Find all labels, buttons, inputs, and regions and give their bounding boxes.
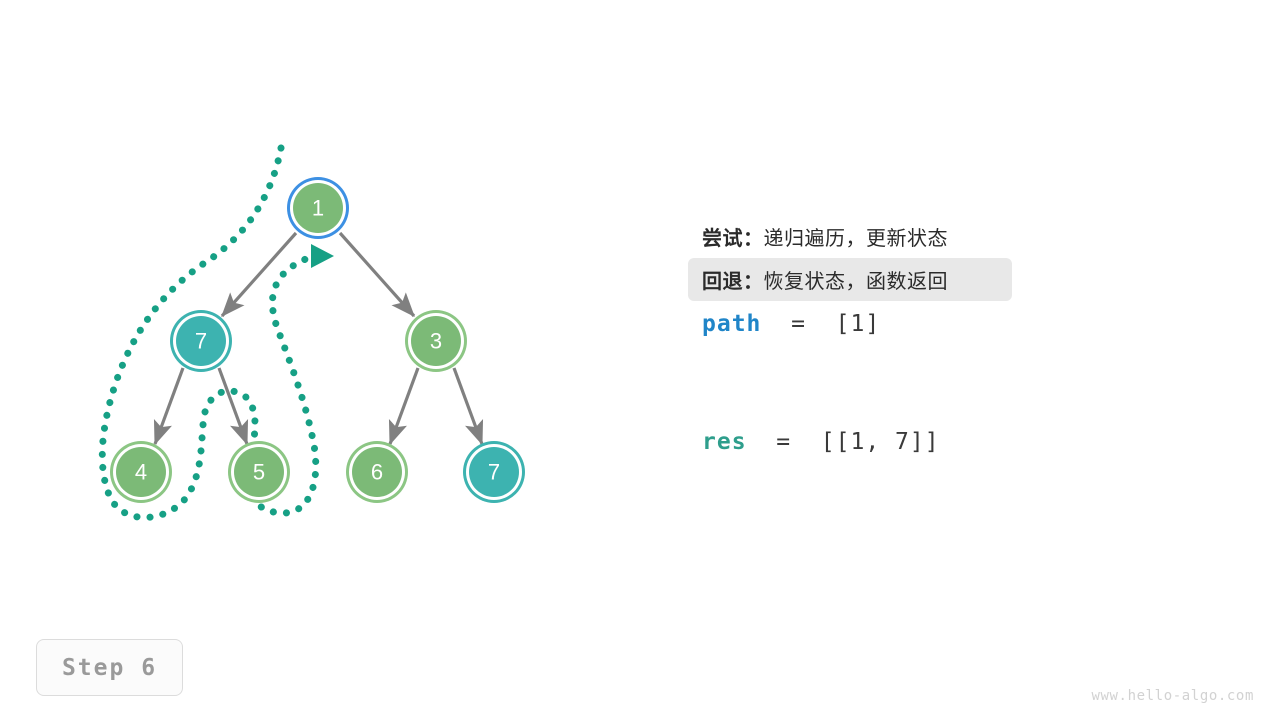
phase-row-backtrack: 回退： 恢复状态，函数返回	[688, 258, 1012, 301]
step-badge: Step 6	[36, 639, 183, 696]
tree-node-1[interactable]: 1	[287, 177, 349, 239]
phase-row-try: 尝试： 递归遍历，更新状态	[688, 215, 1012, 258]
phase-backtrack-label: 回退：	[702, 265, 764, 294]
tree-node-4[interactable]: 4	[110, 441, 172, 503]
path-variable-value: = [1]	[761, 311, 880, 337]
site-watermark: www.hello-algo.com	[1091, 688, 1254, 704]
tree-node-5[interactable]: 5	[228, 441, 290, 503]
res-variable-value: = [[1, 7]]	[747, 429, 940, 455]
trail-arrowhead-icon	[311, 244, 334, 268]
tree-node-7-left[interactable]: 7	[170, 310, 232, 372]
edge-7-to-5	[219, 368, 247, 444]
edge-3-to-7	[454, 368, 482, 444]
node-7r-label: 7	[488, 460, 500, 485]
edge-7-to-4	[155, 368, 183, 444]
node-3-label: 3	[430, 329, 442, 354]
node-7l-label: 7	[195, 329, 207, 354]
phase-backtrack-description: 恢复状态，函数返回	[764, 265, 949, 294]
node-6-label: 6	[371, 460, 383, 485]
node-5-label: 5	[253, 460, 265, 485]
node-1-label: 1	[312, 196, 324, 221]
tree-node-7-right[interactable]: 7	[463, 441, 525, 503]
tree-node-3[interactable]: 3	[405, 310, 467, 372]
edge-1-to-3	[340, 233, 414, 316]
code-spacer	[688, 347, 1158, 419]
edge-3-to-6	[390, 368, 418, 444]
tree-node-6[interactable]: 6	[346, 441, 408, 503]
binary-tree-diagram: 1 7 3 4 5	[0, 0, 640, 720]
res-variable-name: res	[702, 429, 747, 455]
state-info-panel: 尝试： 递归遍历，更新状态 回退： 恢复状态，函数返回 path = [1] r…	[688, 215, 1158, 465]
path-variable-name: path	[702, 311, 761, 337]
phase-try-label: 尝试：	[702, 222, 764, 251]
path-state-line: path = [1]	[688, 301, 1158, 347]
res-state-line: res = [[1, 7]]	[688, 419, 1158, 465]
phase-try-description: 递归遍历，更新状态	[764, 222, 949, 251]
tree-nodes: 1 7 3 4 5	[110, 177, 525, 503]
node-4-label: 4	[135, 460, 147, 485]
